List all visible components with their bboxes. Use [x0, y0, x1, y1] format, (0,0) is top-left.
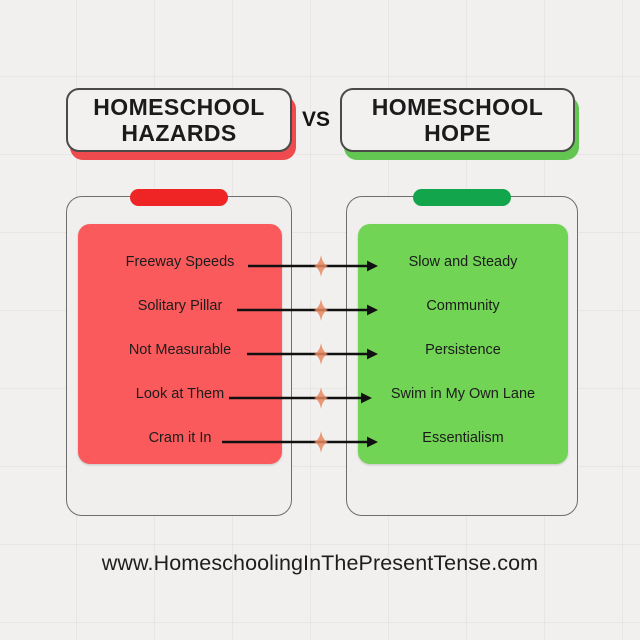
hazards-sheet: Freeway Speeds Solitary Pillar Not Measu… — [78, 224, 282, 464]
sparkle-icon — [314, 431, 328, 453]
vs-label: VS — [292, 88, 340, 152]
list-item: Not Measurable — [78, 328, 282, 372]
hazards-header-title: HOMESCHOOL HAZARDS — [93, 94, 264, 146]
infographic-canvas: HOMESCHOOL HAZARDS VS HOMESCHOOL HOPE Fr… — [0, 0, 640, 640]
list-item: Solitary Pillar — [78, 284, 282, 328]
list-item: Persistence — [358, 328, 568, 372]
clipboard-clip-icon-right — [413, 189, 511, 206]
hazards-clipboard: Freeway Speeds Solitary Pillar Not Measu… — [66, 196, 292, 516]
sparkle-icon — [314, 299, 328, 321]
hope-list: Slow and Steady Community Persistence Sw… — [358, 224, 568, 464]
sparkle-icon — [314, 387, 328, 409]
footer-url: www.HomeschoolingInThePresentTense.com — [0, 551, 640, 576]
list-item: Freeway Speeds — [78, 240, 282, 284]
list-item: Community — [358, 284, 568, 328]
header-row: HOMESCHOOL HAZARDS VS HOMESCHOOL HOPE — [0, 88, 640, 170]
list-item: Cram it In — [78, 416, 282, 460]
list-item: Slow and Steady — [358, 240, 568, 284]
hazards-header-card: HOMESCHOOL HAZARDS — [66, 88, 292, 152]
clipboard-clip-icon-left — [130, 189, 228, 206]
hope-clipboard: Slow and Steady Community Persistence Sw… — [346, 196, 578, 516]
hope-header-card: HOMESCHOOL HOPE — [340, 88, 575, 152]
list-item: Essentialism — [358, 416, 568, 460]
list-item: Swim in My Own Lane — [358, 372, 568, 416]
hazards-list: Freeway Speeds Solitary Pillar Not Measu… — [78, 224, 282, 464]
sparkle-icon — [314, 255, 328, 277]
sparkle-icon — [314, 343, 328, 365]
list-item: Look at Them — [78, 372, 282, 416]
hope-sheet: Slow and Steady Community Persistence Sw… — [358, 224, 568, 464]
hope-header-title: HOMESCHOOL HOPE — [372, 94, 543, 146]
